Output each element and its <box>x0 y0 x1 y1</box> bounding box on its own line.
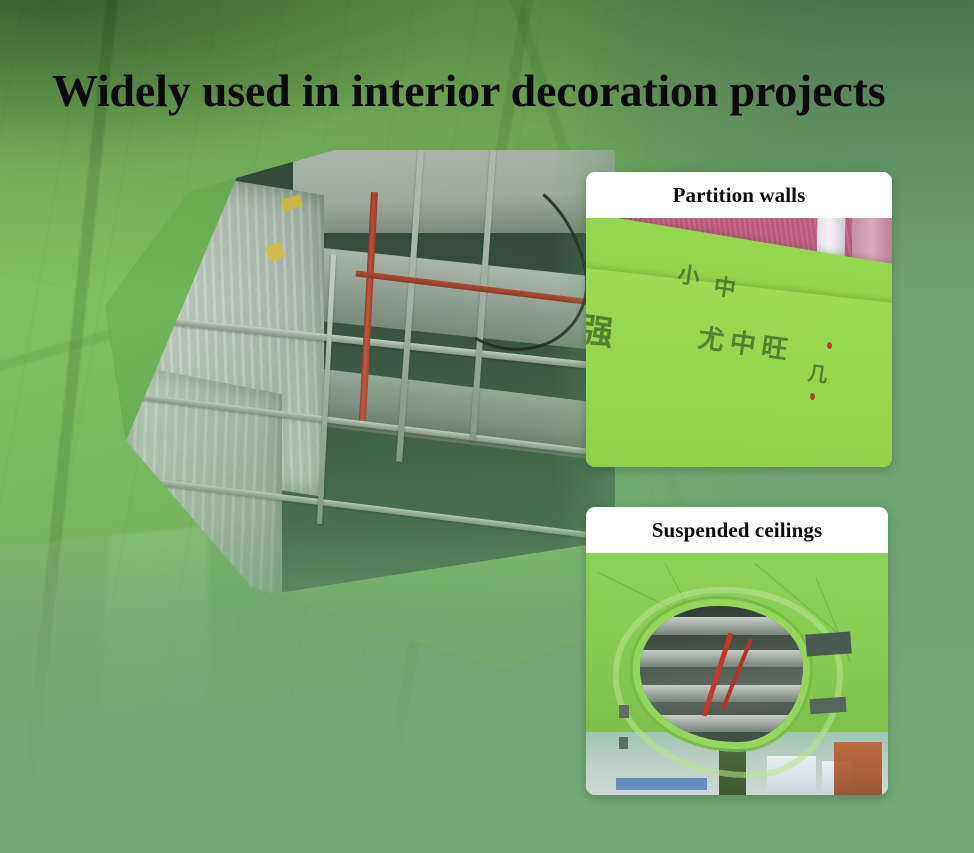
red-mark-2 <box>810 393 815 400</box>
card-title-suspended-ceilings: Suspended ceilings <box>586 507 888 553</box>
card-title-partition-walls: Partition walls <box>586 172 892 218</box>
page-title: Widely used in interior decoration proje… <box>52 68 932 114</box>
ceiling-fixture-1 <box>619 705 629 718</box>
suspended-ceilings-photo <box>586 553 888 795</box>
inset-card-partition-walls[interactable]: Partition walls 强 小 中 尤中旺 几 <box>586 172 892 467</box>
ceiling-fixture-2 <box>619 737 628 749</box>
scissor-lift <box>834 742 882 795</box>
inset-card-suspended-ceilings[interactable]: Suspended ceilings <box>586 507 888 795</box>
ceiling-vent-2 <box>809 697 846 714</box>
ceiling-vent-1 <box>806 631 853 656</box>
partition-walls-photo: 强 小 中 尤中旺 几 <box>586 218 892 467</box>
slide-canvas: Widely used in interior decoration proje… <box>0 0 974 853</box>
red-mark-1 <box>827 342 832 349</box>
blue-barrier <box>616 778 707 790</box>
